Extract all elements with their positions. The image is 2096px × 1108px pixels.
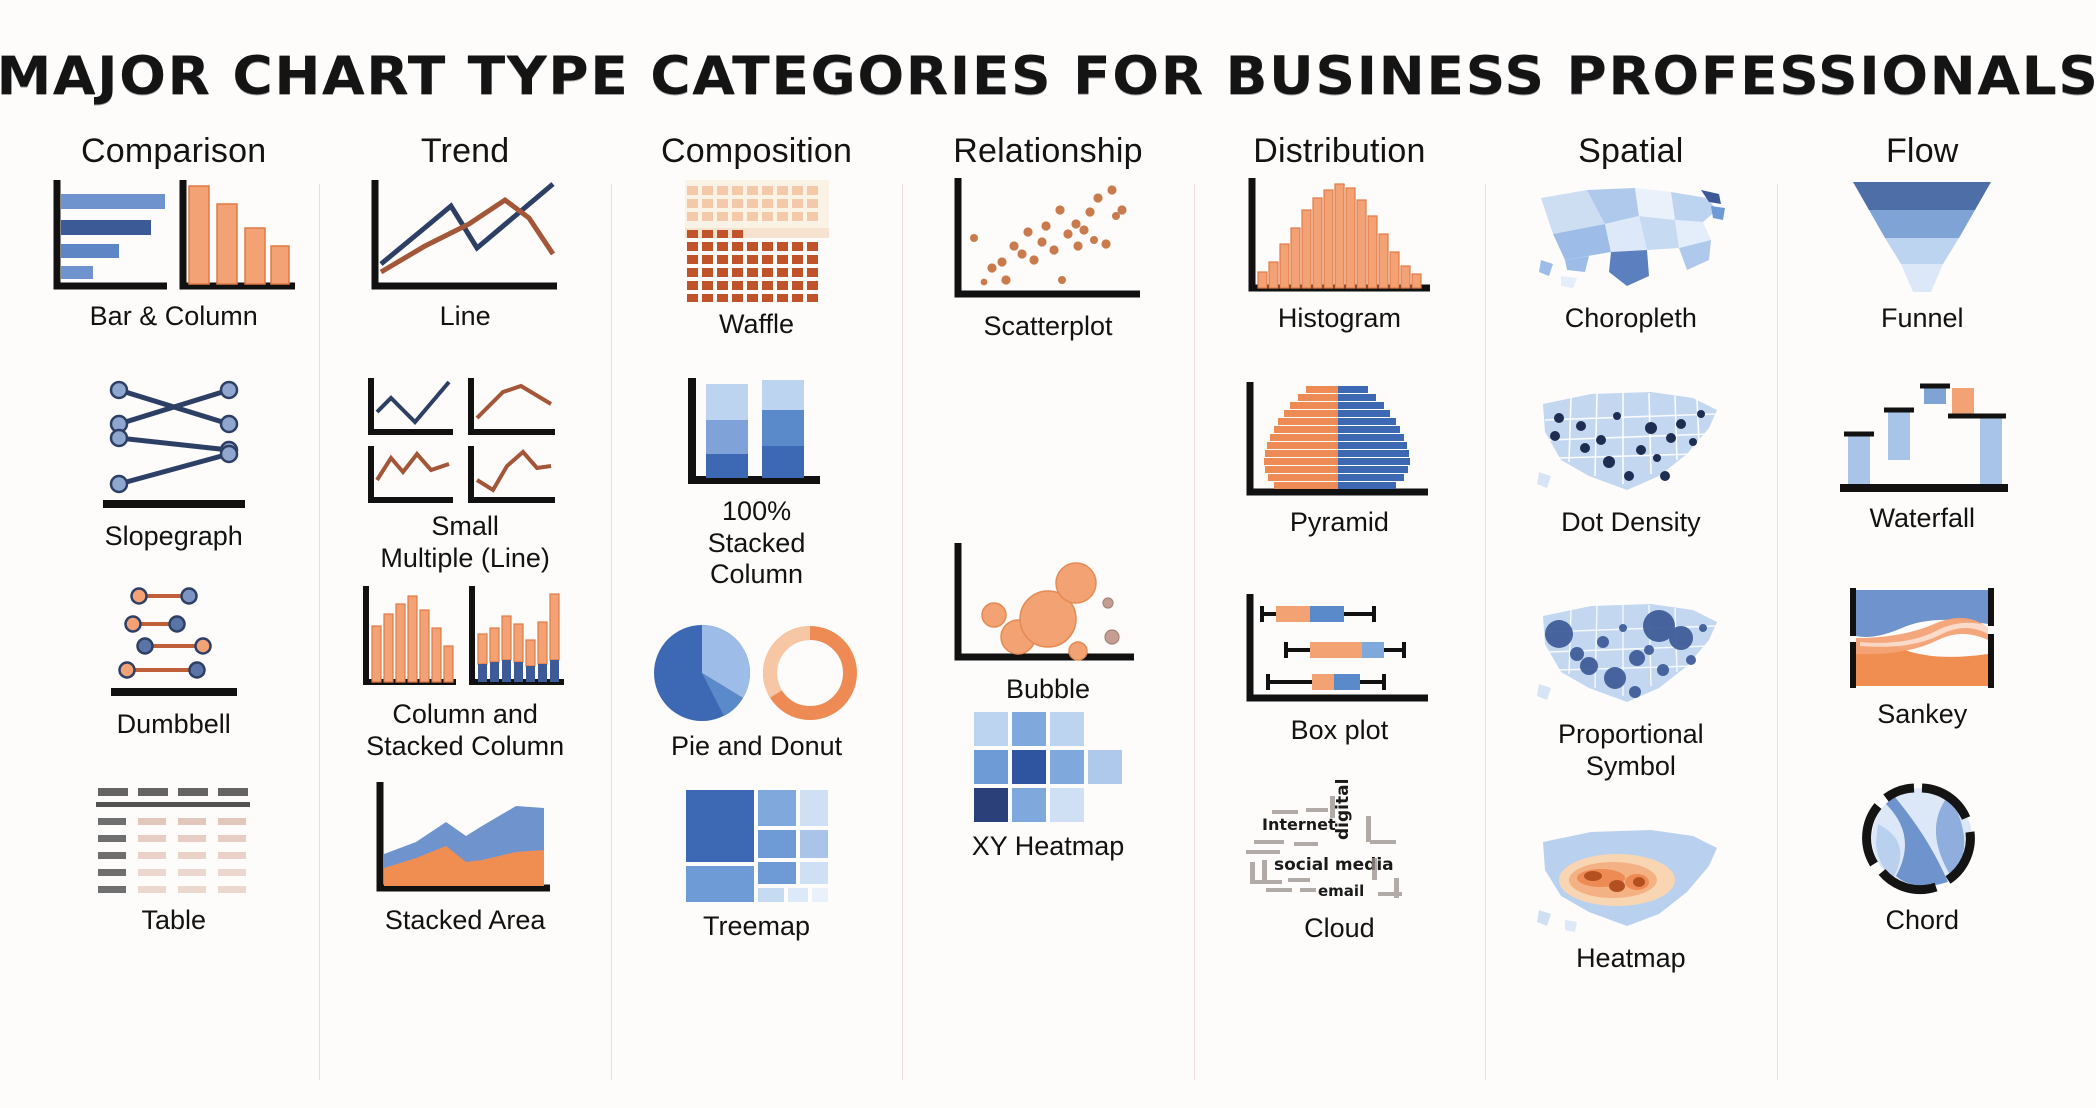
chart-item-pie-and-donut[interactable]: Pie and Donut (617, 621, 896, 786)
chart-label: Choropleth (1565, 303, 1697, 335)
category-header-distribution: Distribution (1253, 134, 1425, 168)
column-and-stacked-column-chart-icon (360, 584, 570, 694)
chart-item-column-and-stacked-column[interactable]: Column and Stacked Column (325, 584, 604, 780)
chart-label: Pyramid (1290, 507, 1389, 539)
chart-item-scatterplot[interactable]: Scatterplot (908, 176, 1187, 388)
chart-item-pyramid[interactable]: Pyramid (1200, 380, 1479, 592)
pyramid-chart-icon (1244, 380, 1434, 502)
category-column-spatial: Spatial (1485, 126, 1776, 1086)
bubble-chart-icon (948, 541, 1148, 669)
chart-item-waffle[interactable]: {} (617, 176, 896, 376)
chart-item-proportional-symbol[interactable]: Proportional Symbol (1491, 592, 1770, 818)
category-header-comparison: Comparison (81, 134, 266, 168)
chart-label: Sankey (1877, 699, 1967, 731)
chart-item-small-multiple-line[interactable]: Small Multiple (Line) (325, 376, 604, 584)
xy-heatmap-chart-icon (968, 706, 1128, 826)
category-column-relationship: Relationship (902, 126, 1193, 1086)
dot-density-map-icon (1531, 380, 1731, 502)
treemap-chart-icon (682, 786, 832, 906)
chart-label: Slopegraph (105, 521, 243, 553)
chart-label: Small Multiple (Line) (380, 511, 550, 574)
svg-text:digital: digital (1333, 779, 1353, 840)
chart-label: 100% Stacked Column (708, 496, 806, 591)
chart-item-chord[interactable]: Chord (1783, 780, 2062, 960)
pie-and-donut-chart-icon (652, 621, 862, 726)
category-header-flow: Flow (1886, 134, 1959, 168)
chart-item-sankey[interactable]: Sankey (1783, 584, 2062, 780)
chart-label: Histogram (1278, 303, 1401, 335)
category-header-trend: Trend (421, 134, 510, 168)
chart-label: Dot Density (1561, 507, 1701, 539)
small-multiple-line-chart-icon (365, 376, 565, 506)
chart-label: Line (440, 301, 491, 333)
chart-label: Scatterplot (983, 311, 1112, 343)
category-header-relationship: Relationship (953, 134, 1143, 168)
dumbbell-chart-icon (89, 584, 259, 704)
chart-item-stacked-area[interactable]: Stacked Area (325, 780, 604, 960)
poster-root: MAJOR CHART TYPE CATEGORIES FOR BUSINESS… (0, 0, 2096, 1108)
category-column-trend: Trend Line (319, 126, 610, 1086)
chart-label: Chord (1886, 905, 1960, 937)
waterfall-chart-icon (1832, 376, 2012, 498)
chart-label: Box plot (1291, 715, 1389, 747)
chart-item-treemap[interactable]: Treemap (617, 786, 896, 966)
category-header-composition: Composition (661, 134, 852, 168)
funnel-chart-icon (1837, 176, 2007, 298)
histogram-chart-icon (1244, 176, 1434, 298)
box-plot-chart-icon (1244, 592, 1434, 710)
chart-item-waterfall[interactable]: Waterfall (1783, 376, 2062, 584)
chart-item-dumbbell[interactable]: Dumbbell (34, 584, 313, 780)
chart-item-100-stacked-column[interactable]: 100% Stacked Column (617, 376, 896, 621)
choropleth-map-icon (1531, 176, 1731, 298)
chart-item-dot-density[interactable]: Dot Density (1491, 380, 1770, 592)
chart-item-box-plot[interactable]: Box plot (1200, 592, 1479, 788)
chart-item-heatmap-map[interactable]: Heatmap (1491, 818, 1770, 998)
heatmap-map-icon (1531, 818, 1731, 938)
svg-text:Internet: Internet (1262, 815, 1336, 834)
chart-item-line[interactable]: Line (325, 176, 604, 376)
chart-item-bar-and-column[interactable]: Bar & Column (34, 176, 313, 376)
category-column-composition: Composition {} (611, 126, 902, 1086)
category-column-comparison: Comparison (28, 126, 319, 1086)
chart-label: Treemap (703, 911, 810, 943)
svg-text:email: email (1318, 882, 1364, 900)
chart-label: XY Heatmap (972, 831, 1125, 863)
hundred-percent-stacked-column-chart-icon (682, 376, 832, 491)
slopegraph-chart-icon (89, 376, 259, 516)
line-chart-icon (365, 176, 565, 296)
chord-chart-icon (1852, 780, 1992, 900)
chart-item-table[interactable]: Table (34, 780, 313, 960)
chart-label: Pie and Donut (671, 731, 842, 763)
scatterplot-chart-icon (948, 176, 1148, 306)
bar-and-column-chart-icon (49, 176, 299, 296)
category-column-distribution: Distribution (1194, 126, 1485, 1086)
chart-label: Column and Stacked Column (366, 699, 564, 762)
chart-category-grid: Comparison (28, 126, 2068, 1086)
proportional-symbol-map-icon (1531, 592, 1731, 714)
chart-item-funnel[interactable]: Funnel (1783, 176, 2062, 376)
chart-item-xy-heatmap[interactable]: XY Heatmap (908, 706, 1187, 886)
category-header-spatial: Spatial (1578, 134, 1683, 168)
chart-label: Waffle (719, 309, 794, 341)
chart-item-histogram[interactable]: Histogram (1200, 176, 1479, 380)
chart-item-word-cloud[interactable]: Internet digital social media email (1200, 788, 1479, 968)
chart-label: Cloud (1304, 913, 1375, 945)
chart-item-choropleth[interactable]: Choropleth (1491, 176, 1770, 380)
chart-label: Table (141, 905, 206, 937)
chart-label: Funnel (1881, 303, 1964, 335)
waffle-chart-icon: {} (677, 176, 837, 304)
page-title: MAJOR CHART TYPE CATEGORIES FOR BUSINESS… (0, 46, 2096, 107)
chart-item-bubble[interactable]: Bubble (908, 388, 1187, 706)
chart-label: Waterfall (1870, 503, 1976, 535)
table-chart-icon (84, 780, 264, 900)
category-column-flow: Flow Funnel (1777, 126, 2068, 1086)
chart-label: Heatmap (1576, 943, 1686, 975)
chart-label: Proportional Symbol (1558, 719, 1704, 782)
chart-item-slopegraph[interactable]: Slopegraph (34, 376, 313, 584)
chart-label: Bubble (1006, 674, 1090, 706)
word-cloud-chart-icon: Internet digital social media email (1244, 788, 1434, 908)
chart-label: Stacked Area (385, 905, 546, 937)
sankey-chart-icon (1842, 584, 2002, 694)
stacked-area-chart-icon (370, 780, 560, 900)
chart-label: Bar & Column (90, 301, 258, 333)
chart-label: Dumbbell (117, 709, 231, 741)
